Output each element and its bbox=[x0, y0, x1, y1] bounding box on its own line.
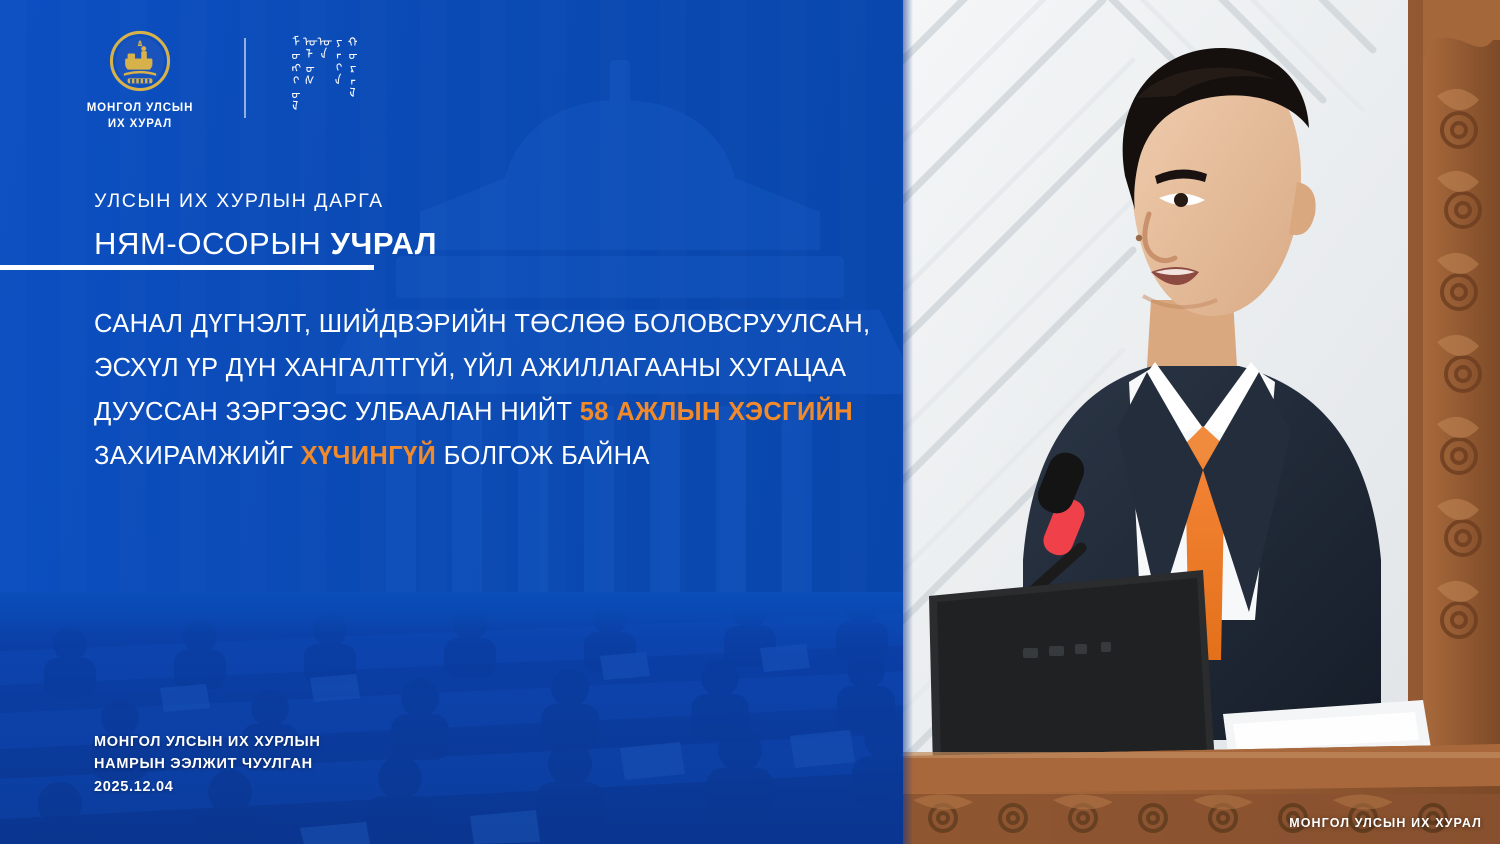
title-block: УЛСЫН ИХ ХУРЛЫН ДАРГА НЯМ-ОСОРЫН УЧРАЛ bbox=[94, 190, 854, 262]
photo-left-edge-shadow bbox=[903, 0, 913, 844]
speaker-name: НЯМ-ОСОРЫН УЧРАЛ bbox=[94, 226, 854, 262]
chamber-photo-blue-tint bbox=[0, 592, 903, 844]
speaker-photo-graphic bbox=[903, 0, 1500, 844]
speaker-name-prefix: НЯМ-ОСОРЫН bbox=[94, 226, 331, 261]
mongol-vertical-script: ᠮᠣᠩᠭᠣᠯ ᠤᠯᠤᠰ ᠤᠨ ᠶᠡᠬᠡ ᠬᠤᠷᠠᠯ bbox=[284, 34, 355, 122]
chamber-photo-top-fade bbox=[0, 592, 903, 628]
emblem-caption: МОНГОЛ УЛСЫН ИХ ХУРАЛ bbox=[87, 101, 194, 132]
emblem-block: МОНГОЛ УЛСЫН ИХ ХУРАЛ bbox=[60, 30, 220, 132]
logo-divider bbox=[244, 38, 246, 118]
parliament-logo-lockup: МОНГОЛ УЛСЫН ИХ ХУРАЛ ᠮᠣᠩᠭᠣᠯ ᠤᠯᠤᠰ ᠤᠨ ᠶᠡᠬ… bbox=[60, 30, 355, 132]
parliament-chamber-photo bbox=[0, 592, 903, 844]
photo-watermark: МОНГОЛ УЛСЫН ИХ ХУРАЛ bbox=[1289, 816, 1482, 830]
left-info-panel: МОНГОЛ УЛСЫН ИХ ХУРАЛ ᠮᠣᠩᠭᠣᠯ ᠤᠯᠤᠰ ᠤᠨ ᠶᠡᠬ… bbox=[0, 0, 903, 844]
laptop bbox=[929, 570, 1215, 770]
speaker-photo: МОНГОЛ УЛСЫН ИХ ХУРАЛ bbox=[903, 0, 1500, 844]
statement-text: САНАЛ ДҮГНЭЛТ, ШИЙДВЭРИЙН ТӨСЛӨӨ БОЛОВСР… bbox=[94, 302, 884, 478]
speaker-role: УЛСЫН ИХ ХУРЛЫН ДАРГА bbox=[94, 190, 854, 213]
statement-run: БОЛГОЖ БАЙНА bbox=[436, 442, 650, 470]
statement-run: ЗАХИРАМЖИЙГ bbox=[94, 442, 301, 470]
statement-highlight: 58 АЖЛЫН ХЭСГИЙН bbox=[580, 398, 853, 426]
broadcast-slide: МОНГОЛ УЛСЫН ИХ ХУРАЛ ᠮᠣᠩᠭᠣᠯ ᠤᠯᠤᠰ ᠤᠨ ᠶᠡᠬ… bbox=[0, 0, 1500, 844]
session-caption: МОНГОЛ УЛСЫН ИХ ХУРЛЫН НАМРЫН ЭЭЛЖИТ ЧУУ… bbox=[94, 731, 321, 798]
mongolia-state-emblem-icon bbox=[109, 30, 171, 92]
title-underline-rule bbox=[0, 265, 374, 270]
speaker-name-bold: УЧРАЛ bbox=[331, 226, 438, 261]
statement-highlight: ХҮЧИНГҮЙ bbox=[301, 442, 437, 470]
